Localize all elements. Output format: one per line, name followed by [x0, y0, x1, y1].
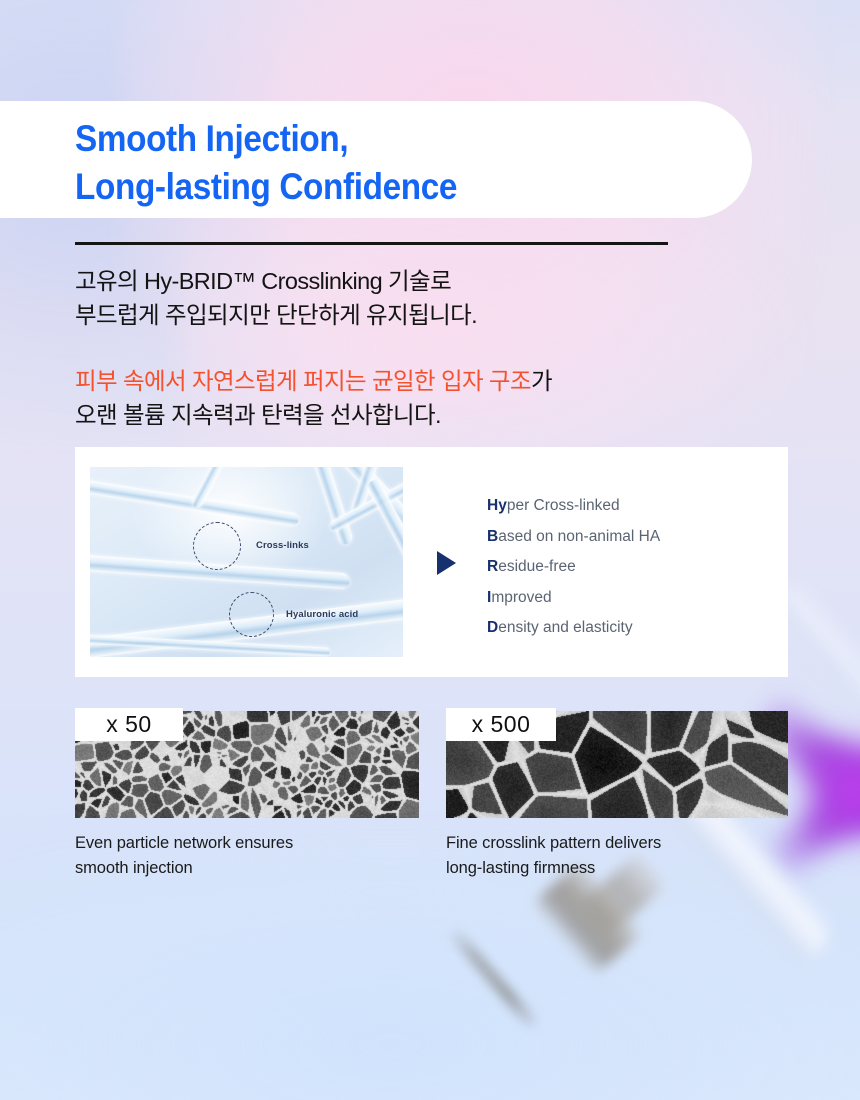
hyaluronic-callout-circle: [229, 592, 274, 637]
crosslinks-callout-circle: [193, 522, 241, 570]
acronym-item-improved: Improved: [487, 583, 757, 614]
highlight-accent-text: 피부 속에서 자연스럽게 퍼지는 균일한 입자 구조: [75, 368, 531, 394]
hybrid-acronym-list: Hyper Cross-linked Based on non-animal H…: [487, 491, 757, 644]
caption-left: Even particle network ensures smooth inj…: [75, 831, 415, 881]
magnification-badge-x500: x 500: [446, 708, 556, 741]
acronym-item-density: Density and elasticity: [487, 613, 757, 644]
page-content: Smooth Injection, Long-lasting Confidenc…: [0, 0, 860, 1100]
headline-panel: Smooth Injection, Long-lasting Confidenc…: [0, 101, 752, 218]
magnification-badge-x50: x 50: [75, 708, 183, 741]
hyaluronic-callout-label: Hyaluronic acid: [286, 609, 358, 620]
arrow-right-icon: [437, 551, 456, 575]
acronym-item-residue: Residue-free: [487, 552, 757, 583]
crosslinks-callout-label: Cross-links: [256, 540, 309, 551]
section-divider: [75, 242, 668, 245]
highlight-second-line: 오랜 볼륨 지속력과 탄력을 선사합니다.: [75, 398, 552, 432]
crosslink-diagram-image: Cross-links Hyaluronic acid: [90, 467, 403, 657]
acronym-item-based: Based on non-animal HA: [487, 522, 757, 553]
caption-right: Fine crosslink pattern delivers long-las…: [446, 831, 786, 881]
lead-paragraph: 고유의 Hy-BRID™ Crosslinking 기술로 부드럽게 주입되지만…: [75, 264, 477, 332]
highlight-paragraph: 피부 속에서 자연스럽게 퍼지는 균일한 입자 구조가 오랜 볼륨 지속력과 탄…: [75, 364, 552, 432]
highlight-accent-tail: 가: [531, 368, 552, 394]
acronym-item-hyper: Hyper Cross-linked: [487, 491, 757, 522]
page-title: Smooth Injection, Long-lasting Confidenc…: [75, 115, 457, 211]
